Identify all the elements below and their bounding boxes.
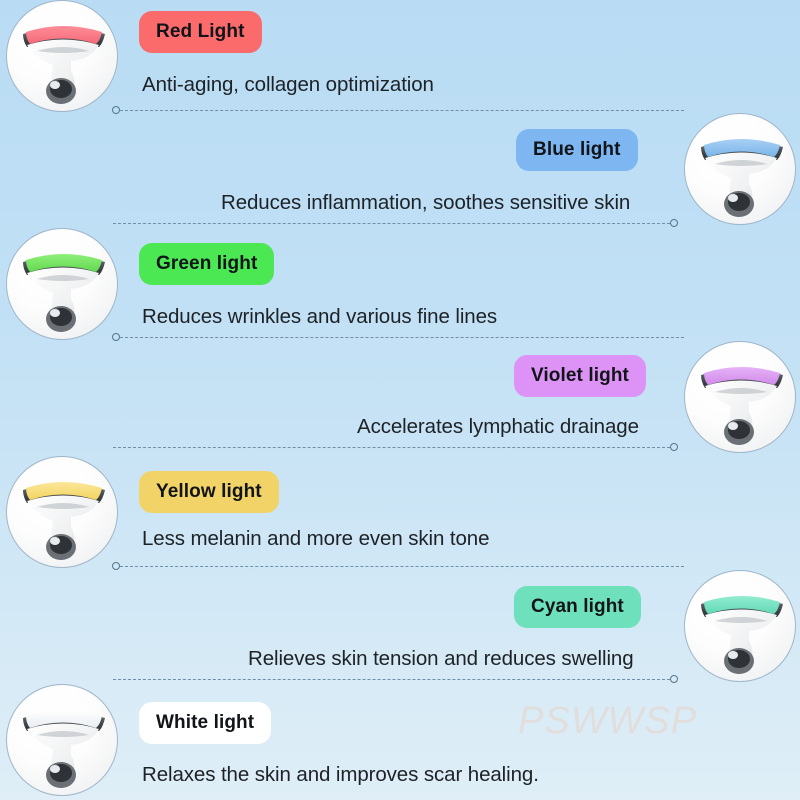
badge-yellow[interactable]: Yellow light — [139, 471, 279, 513]
watermark-text: PSWWSP — [518, 700, 697, 743]
description-blue: Reduces inflammation, soothes sensitive … — [221, 191, 630, 215]
device-illustration-violet — [685, 342, 796, 453]
device-photo-white — [6, 684, 118, 796]
connector-knob-red — [112, 106, 120, 114]
device-illustration-green — [7, 229, 118, 340]
connector-red — [112, 106, 684, 115]
description-red: Anti-aging, collagen optimization — [142, 73, 434, 97]
connector-knob-violet — [670, 443, 678, 451]
connector-knob-cyan — [670, 675, 678, 683]
badge-label-white: White light — [156, 712, 254, 734]
connector-line-cyan — [113, 679, 670, 680]
device-illustration-white — [7, 685, 118, 796]
connector-line-yellow — [120, 566, 684, 567]
device-photo-green — [6, 228, 118, 340]
badge-label-red: Red Light — [156, 21, 245, 43]
badge-cyan[interactable]: Cyan light — [514, 586, 641, 628]
badge-violet[interactable]: Violet light — [514, 355, 646, 397]
description-violet: Accelerates lymphatic drainage — [357, 415, 639, 439]
connector-knob-blue — [670, 219, 678, 227]
description-yellow: Less melanin and more even skin tone — [142, 527, 489, 551]
device-illustration-cyan — [685, 571, 796, 682]
device-illustration-red — [7, 1, 118, 112]
description-white: Relaxes the skin and improves scar heali… — [142, 763, 539, 787]
connector-line-blue — [113, 223, 670, 224]
device-photo-yellow — [6, 456, 118, 568]
badge-blue[interactable]: Blue light — [516, 129, 638, 171]
infographic-canvas: PSWWSP — [0, 0, 800, 800]
connector-cyan — [113, 675, 678, 684]
connector-yellow — [112, 562, 684, 571]
device-photo-cyan — [684, 570, 796, 682]
connector-line-violet — [113, 447, 670, 448]
badge-green[interactable]: Green light — [139, 243, 274, 285]
connector-violet — [113, 443, 678, 452]
badge-label-cyan: Cyan light — [531, 596, 624, 618]
device-illustration-yellow — [7, 457, 118, 568]
device-illustration-blue — [685, 114, 796, 225]
badge-white[interactable]: White light — [139, 702, 271, 744]
badge-label-yellow: Yellow light — [156, 481, 262, 503]
badge-label-green: Green light — [156, 253, 257, 275]
device-photo-blue — [684, 113, 796, 225]
connector-knob-green — [112, 333, 120, 341]
connector-blue — [113, 219, 678, 228]
connector-line-green — [120, 337, 684, 338]
description-green: Reduces wrinkles and various fine lines — [142, 305, 497, 329]
badge-label-violet: Violet light — [531, 365, 629, 387]
device-photo-red — [6, 0, 118, 112]
device-photo-violet — [684, 341, 796, 453]
connector-line-red — [120, 110, 684, 111]
badge-label-blue: Blue light — [533, 139, 621, 161]
badge-red[interactable]: Red Light — [139, 11, 262, 53]
connector-green — [112, 333, 684, 342]
description-cyan: Relieves skin tension and reduces swelli… — [248, 647, 634, 671]
connector-knob-yellow — [112, 562, 120, 570]
